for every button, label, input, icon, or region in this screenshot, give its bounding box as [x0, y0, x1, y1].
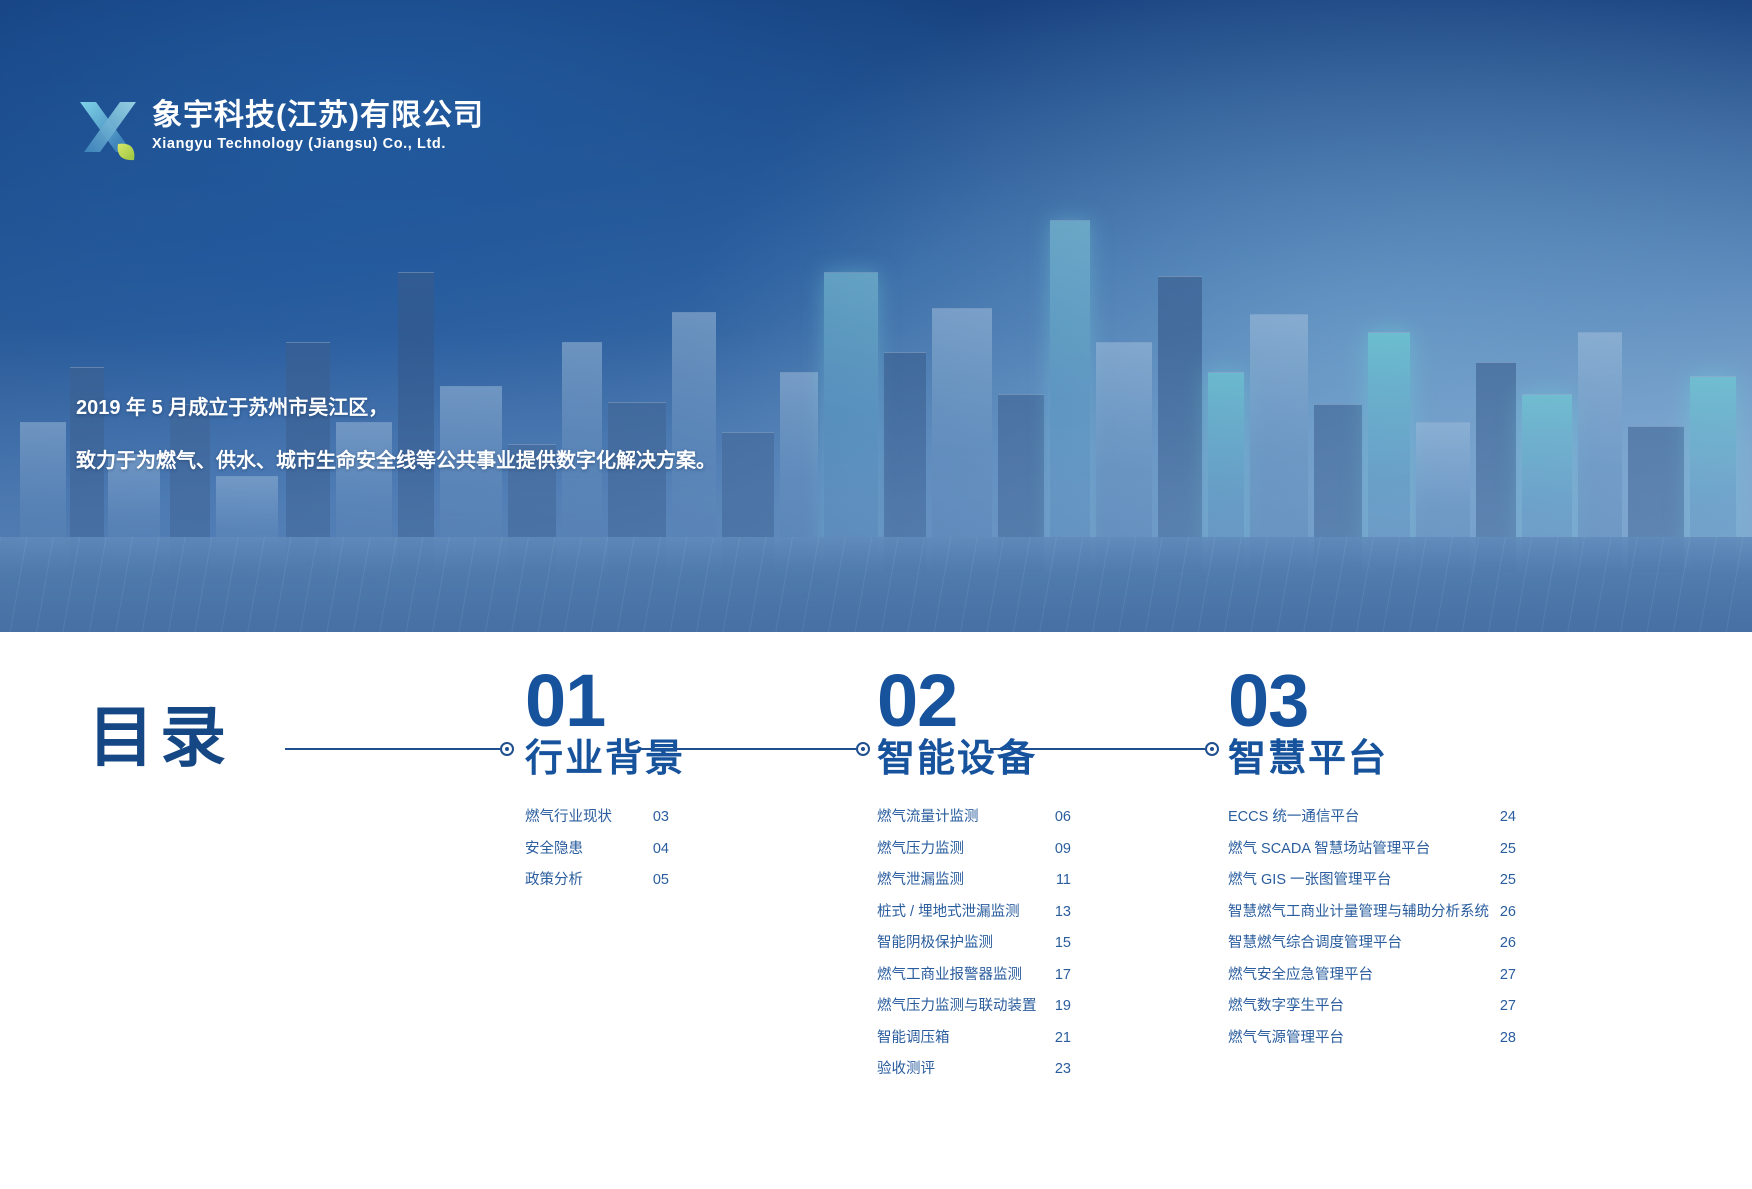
toc-node-1 — [500, 742, 514, 756]
toc-column-title: 智慧平台 — [1228, 740, 1516, 780]
toc-item-page: 05 — [643, 873, 669, 888]
toc-item-label: 燃气流量计监测 — [877, 810, 1045, 825]
toc-item-page: 03 — [643, 810, 669, 825]
toc-item-label: 燃气 GIS 一张图管理平台 — [1228, 873, 1490, 888]
toc-item[interactable]: 智能阴极保护监测 15 — [877, 936, 1071, 951]
logo-company-name-cn: 象宇科技(江苏)有限公司 — [152, 99, 484, 133]
toc-item-page: 25 — [1490, 842, 1516, 857]
toc-item-label: 桩式 / 埋地式泄漏监测 — [877, 905, 1045, 920]
toc-item-label: 燃气气源管理平台 — [1228, 1031, 1490, 1046]
toc-list: ECCS 统一通信平台 24 燃气 SCADA 智慧场站管理平台 25 燃气 G… — [1228, 810, 1516, 1045]
toc-column-number: 02 — [877, 666, 1071, 736]
toc-item[interactable]: 智慧燃气综合调度管理平台 26 — [1228, 936, 1516, 951]
toc-item-label: 燃气数字孪生平台 — [1228, 999, 1490, 1014]
toc-item[interactable]: 燃气安全应急管理平台 27 — [1228, 968, 1516, 983]
toc-item-page: 17 — [1045, 968, 1071, 983]
logo-company-name-en: Xiangyu Technology (Jiangsu) Co., Ltd. — [152, 136, 484, 153]
toc-item-page: 26 — [1490, 905, 1516, 920]
toc-item-label: 智能调压箱 — [877, 1031, 1045, 1046]
toc-item[interactable]: 桩式 / 埋地式泄漏监测 13 — [877, 905, 1071, 920]
toc-item-label: 验收测评 — [877, 1062, 1045, 1077]
company-logo: 象宇科技(江苏)有限公司 Xiangyu Technology (Jiangsu… — [76, 88, 484, 162]
toc-item[interactable]: 燃气工商业报警器监测 17 — [877, 968, 1071, 983]
toc-item-label: 燃气 SCADA 智慧场站管理平台 — [1228, 842, 1490, 857]
toc-item[interactable]: 安全隐患 04 — [525, 842, 685, 857]
toc-item-page: 21 — [1045, 1031, 1071, 1046]
toc-item[interactable]: 燃气行业现状 03 — [525, 810, 685, 825]
toc-item[interactable]: 智慧燃气工商业计量管理与辅助分析系统 26 — [1228, 905, 1516, 920]
toc-node-3 — [1205, 742, 1219, 756]
toc-list: 燃气流量计监测 06 燃气压力监测 09 燃气泄漏监测 11 桩式 / 埋地式泄… — [877, 810, 1071, 1077]
toc-item[interactable]: 燃气泄漏监测 11 — [877, 873, 1071, 888]
toc-item-label: 燃气行业现状 — [525, 810, 643, 825]
toc-item-page: 27 — [1490, 968, 1516, 983]
hero-line-1: 2019 年 5 月成立于苏州市吴江区， — [76, 398, 716, 418]
toc-item-label: 燃气工商业报警器监测 — [877, 968, 1045, 983]
hero-line-2: 致力于为燃气、供水、城市生命安全线等公共事业提供数字化解决方案。 — [76, 451, 716, 471]
toc-column-title: 智能设备 — [877, 740, 1071, 780]
hero-banner: 象宇科技(江苏)有限公司 Xiangyu Technology (Jiangsu… — [0, 0, 1752, 632]
toc-node-2 — [856, 742, 870, 756]
toc-item-label: 燃气泄漏监测 — [877, 873, 1045, 888]
hero-description: 2019 年 5 月成立于苏州市吴江区， 致力于为燃气、供水、城市生命安全线等公… — [76, 398, 716, 471]
toc-item-label: 燃气压力监测与联动装置 — [877, 999, 1045, 1014]
toc-list: 燃气行业现状 03 安全隐患 04 政策分析 05 — [525, 810, 685, 888]
toc-item[interactable]: 燃气数字孪生平台 27 — [1228, 999, 1516, 1014]
toc-item-label: 燃气安全应急管理平台 — [1228, 968, 1490, 983]
toc-column-01: 01 行业背景 燃气行业现状 03 安全隐患 04 政策分析 05 — [525, 666, 685, 905]
toc-item-label: 政策分析 — [525, 873, 643, 888]
toc-item-page: 27 — [1490, 999, 1516, 1014]
toc-item[interactable]: ECCS 统一通信平台 24 — [1228, 810, 1516, 825]
toc-item[interactable]: 验收测评 23 — [877, 1062, 1071, 1077]
toc-item-label: 安全隐患 — [525, 842, 643, 857]
toc-item-page: 15 — [1045, 936, 1071, 951]
toc-item[interactable]: 智能调压箱 21 — [877, 1031, 1071, 1046]
toc-item[interactable]: 燃气流量计监测 06 — [877, 810, 1071, 825]
xiangyu-x-leaf-icon — [76, 88, 140, 162]
toc-column-title: 行业背景 — [525, 740, 685, 780]
toc-item[interactable]: 燃气气源管理平台 28 — [1228, 1031, 1516, 1046]
toc-item[interactable]: 燃气压力监测 09 — [877, 842, 1071, 857]
toc-item-label: ECCS 统一通信平台 — [1228, 810, 1490, 825]
toc-item-label: 智慧燃气综合调度管理平台 — [1228, 936, 1490, 951]
toc-item[interactable]: 政策分析 05 — [525, 873, 685, 888]
toc-connector-rail — [285, 742, 1365, 756]
toc-item-page: 23 — [1045, 1062, 1071, 1077]
toc-item[interactable]: 燃气 SCADA 智慧场站管理平台 25 — [1228, 842, 1516, 857]
toc-item[interactable]: 燃气压力监测与联动装置 19 — [877, 999, 1071, 1014]
table-of-contents: 目录 01 行业背景 燃气行业现状 03 安全隐患 04 — [0, 632, 1752, 1189]
toc-item-page: 13 — [1045, 905, 1071, 920]
toc-item-page: 25 — [1490, 873, 1516, 888]
toc-item-page: 19 — [1045, 999, 1071, 1014]
toc-column-02: 02 智能设备 燃气流量计监测 06 燃气压力监测 09 燃气泄漏监测 11 桩… — [877, 666, 1071, 1094]
toc-item-label: 智慧燃气工商业计量管理与辅助分析系统 — [1228, 905, 1490, 920]
hero-haze-overlay — [0, 332, 1752, 632]
toc-item-page: 04 — [643, 842, 669, 857]
toc-item-page: 09 — [1045, 842, 1071, 857]
toc-title: 目录 — [88, 704, 232, 770]
toc-item-page: 26 — [1490, 936, 1516, 951]
toc-column-number: 01 — [525, 666, 685, 736]
slide-page: 象宇科技(江苏)有限公司 Xiangyu Technology (Jiangsu… — [0, 0, 1752, 1189]
toc-column-03: 03 智慧平台 ECCS 统一通信平台 24 燃气 SCADA 智慧场站管理平台… — [1228, 666, 1516, 1062]
toc-column-number: 03 — [1228, 666, 1516, 736]
toc-item[interactable]: 燃气 GIS 一张图管理平台 25 — [1228, 873, 1516, 888]
toc-item-page: 24 — [1490, 810, 1516, 825]
toc-item-label: 智能阴极保护监测 — [877, 936, 1045, 951]
toc-item-label: 燃气压力监测 — [877, 842, 1045, 857]
toc-item-page: 06 — [1045, 810, 1071, 825]
toc-item-page: 11 — [1045, 873, 1071, 888]
toc-item-page: 28 — [1490, 1031, 1516, 1046]
